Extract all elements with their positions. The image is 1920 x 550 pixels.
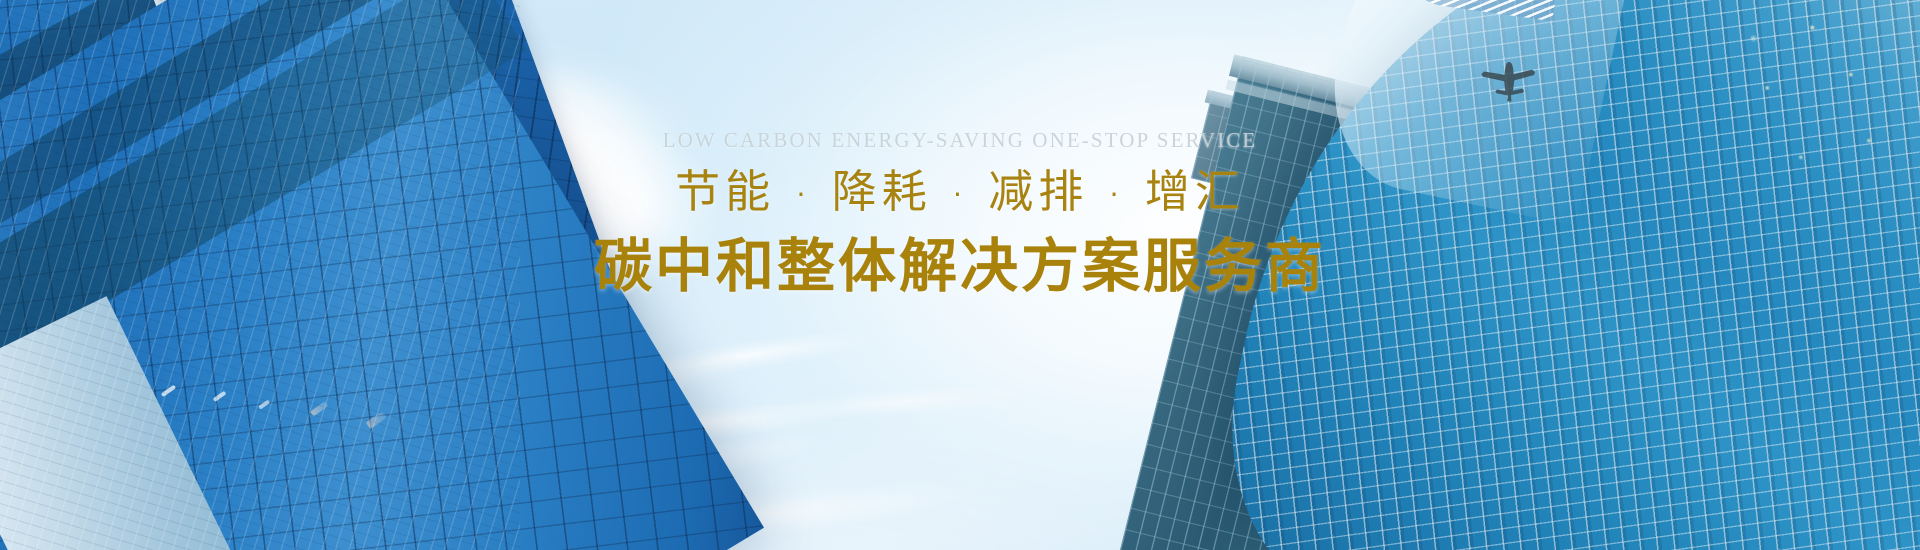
subtitle-part-2: 降耗: [832, 165, 932, 218]
left-building-cluster: [0, 0, 520, 550]
subtitle-separator-3: ·: [1108, 178, 1126, 211]
subtitle-part-1: 节能: [675, 165, 775, 218]
subtitle-part-4: 增汇: [1145, 165, 1245, 218]
subtitle-part-3: 减排: [988, 165, 1088, 218]
airplane-icon: [1478, 56, 1542, 102]
banner-eyebrow-tagline: LOW CARBON ENERGY-SAVING ONE-STOP SERVIC…: [663, 128, 1258, 153]
glass-grid-overlay: [0, 0, 520, 550]
banner-headline: 碳中和整体解决方案服务商: [594, 232, 1326, 300]
subtitle-separator-2: ·: [951, 178, 969, 211]
hero-banner: LOW CARBON ENERGY-SAVING ONE-STOP SERVIC…: [0, 0, 1920, 550]
subtitle-separator-1: ·: [795, 178, 813, 211]
banner-subtitle: 节能 · 降耗 · 减排 · 增汇: [675, 165, 1245, 220]
